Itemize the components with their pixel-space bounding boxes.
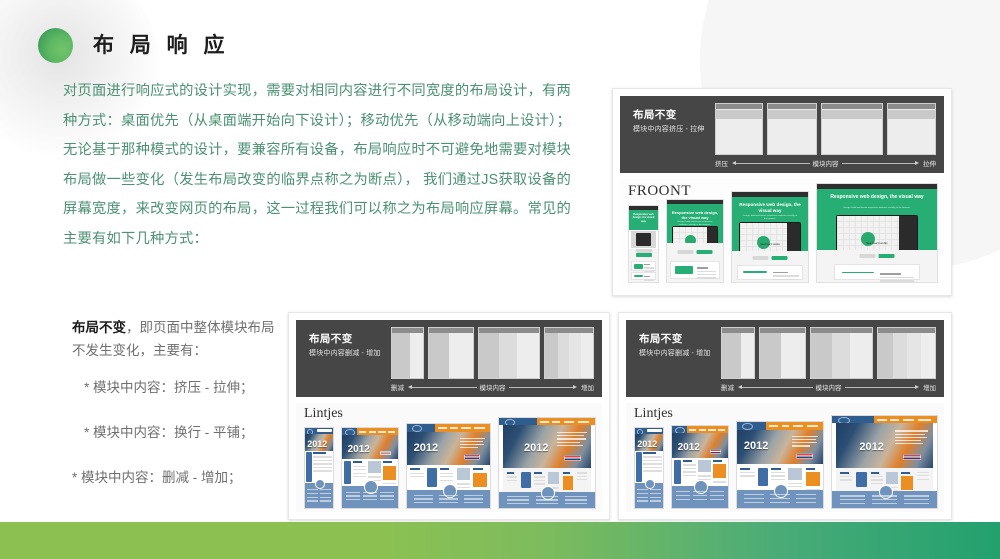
lintjes-screen-desktop: 2012 bbox=[498, 417, 596, 509]
froont-cta[interactable]: See how it works bbox=[834, 242, 920, 245]
lintjes-year: 2012 bbox=[637, 439, 657, 449]
froont-screen-phone: Responsive web design, the visual way bbox=[628, 205, 659, 283]
axis-label-left: 删减 bbox=[721, 382, 734, 392]
froont-cta[interactable]: See how it works bbox=[743, 243, 798, 246]
wireframe-box bbox=[428, 327, 474, 379]
wireframe-box bbox=[759, 327, 806, 379]
lintjes-screen-tablet-small: 2012 bbox=[671, 425, 729, 509]
wireframe-box bbox=[821, 103, 883, 155]
wireframe-box bbox=[544, 327, 594, 379]
wireframe-box-row bbox=[721, 327, 936, 379]
axis-label-right: 拉伸 bbox=[923, 158, 936, 168]
axis-label-left: 挤压 bbox=[715, 158, 728, 168]
wireframe-box bbox=[715, 103, 763, 155]
lintjes-screen-phone: 2012 bbox=[634, 427, 664, 509]
axis-label-left: 删减 bbox=[391, 382, 404, 392]
wireframe-axis: 挤压 模块内容 拉伸 bbox=[715, 158, 936, 168]
wireframe-reduce-add: 布局不变 模块中内容删减 - 增加 bbox=[626, 320, 944, 397]
froont-hero-title: Responsive web design, the visual way bbox=[824, 194, 930, 200]
froont-hero-sub: Design, build and iterate responsive web… bbox=[834, 207, 920, 210]
lead-strong: 布局不变 bbox=[72, 320, 126, 335]
wireframe-subtitle: 模块中内容删减 - 增加 bbox=[639, 349, 711, 359]
wireframe-title: 布局不变 bbox=[633, 108, 705, 122]
list-item: * 模块中内容：挤压 - 拉伸； bbox=[72, 376, 277, 399]
froont-hero-sub: Design, build and iterate responsive web… bbox=[743, 215, 798, 221]
axis-label-right: 增加 bbox=[923, 382, 936, 392]
bullet-list: * 模块中内容：挤压 - 拉伸； * 模块中内容：换行 - 平铺； * 模块中内… bbox=[72, 376, 277, 489]
lintjes-screens-row: 2012 2012 2012 bbox=[304, 427, 596, 509]
wireframe-subtitle: 模块中内容删减 - 增加 bbox=[309, 349, 381, 359]
lintjes-screen-phone: 2012 bbox=[304, 427, 334, 509]
lintjes-brand: Lintjes bbox=[634, 406, 673, 422]
wireframe-box bbox=[810, 327, 873, 379]
wireframe-box bbox=[877, 327, 936, 379]
wireframe-box-row bbox=[715, 103, 936, 155]
lintjes-screen-desktop: 2012 bbox=[831, 415, 938, 509]
lintjes-year: 2012 bbox=[859, 441, 883, 453]
wireframe-title: 布局不变 bbox=[309, 332, 381, 346]
axis-label-center: 模块内容 bbox=[477, 382, 509, 392]
wireframe-box-row bbox=[391, 327, 594, 379]
wireframe-labels: 布局不变 模块中内容删减 - 增加 bbox=[639, 332, 711, 359]
froont-brand: FROONT bbox=[628, 183, 691, 200]
axis-label-right: 增加 bbox=[581, 382, 594, 392]
panel-reduce-add-right: 布局不变 模块中内容删减 - 增加 bbox=[618, 312, 952, 520]
froont-screens-row: Responsive web design, the visual way Re… bbox=[628, 205, 938, 283]
list-item: * 模块中内容：换行 - 平铺； bbox=[72, 421, 277, 444]
lintjes-year: 2012 bbox=[524, 442, 548, 454]
wireframe-box bbox=[721, 327, 755, 379]
lintjes-mock-right: Lintjes 2012 2012 bbox=[626, 403, 944, 512]
lintjes-screens-row: 2012 2012 2012 bbox=[634, 427, 938, 509]
wireframe-subtitle: 模块中内容挤压 - 拉伸 bbox=[633, 125, 705, 135]
wireframe-title: 布局不变 bbox=[639, 332, 711, 346]
list-item: * 模块中内容：删减 - 增加； bbox=[72, 466, 277, 489]
axis-label-center: 模块内容 bbox=[813, 382, 845, 392]
bullet-dot-icon bbox=[38, 28, 73, 63]
wireframe-axis: 删减 模块内容 增加 bbox=[391, 382, 594, 392]
lintjes-brand: Lintjes bbox=[304, 406, 343, 422]
axis-label-center: 模块内容 bbox=[810, 158, 842, 168]
page-title: 布 局 响 应 bbox=[93, 29, 230, 59]
panel-squeeze-stretch: 布局不变 模块中内容挤压 - 拉伸 挤压 模块内容 拉伸 FROONT bbox=[612, 88, 952, 296]
slide-root: 布 局 响 应 对页面进行响应式的设计实现，需要对相同内容进行不同宽度的布局设计… bbox=[0, 0, 1000, 559]
wireframe-reduce-add: 布局不变 模块中内容删减 - 增加 bbox=[296, 320, 602, 397]
lintjes-year: 2012 bbox=[348, 444, 370, 455]
lintjes-year: 2012 bbox=[678, 442, 700, 453]
froont-screen-desktop: Responsive web design, the visual way De… bbox=[816, 183, 938, 283]
lintjes-mock-left: Lintjes 2012 2012 bbox=[296, 403, 602, 512]
lintjes-screen-tablet: 2012 bbox=[406, 423, 491, 509]
footer-gradient-bar bbox=[0, 522, 1000, 559]
froont-hero-title: Responsive web design, the visual way bbox=[631, 213, 657, 223]
wireframe-box bbox=[767, 103, 817, 155]
layout-unchanged-text-block: 布局不变，即页面中整体模块布局不发生变化，主要有： * 模块中内容：挤压 - 拉… bbox=[72, 316, 277, 489]
froont-hero-title: Responsive web design, the visual way bbox=[670, 210, 719, 220]
wireframe-labels: 布局不变 模块中内容挤压 - 拉伸 bbox=[633, 108, 705, 135]
wireframe-box bbox=[887, 103, 936, 155]
lintjes-year: 2012 bbox=[307, 439, 327, 449]
lintjes-year: 2012 bbox=[414, 442, 438, 454]
lead-line: 布局不变，即页面中整体模块布局不发生变化，主要有： bbox=[72, 316, 277, 362]
froont-hero-title: Responsive web design, the visual way bbox=[737, 202, 804, 214]
panel-reduce-add-left: 布局不变 模块中内容删减 - 增加 bbox=[288, 312, 610, 520]
wireframe-squeeze-stretch: 布局不变 模块中内容挤压 - 拉伸 挤压 模块内容 拉伸 bbox=[620, 96, 944, 173]
lintjes-screen-tablet-small: 2012 bbox=[341, 427, 399, 509]
froont-screen-tablet: Responsive web design, the visual way De… bbox=[731, 191, 809, 283]
wireframe-labels: 布局不变 模块中内容删减 - 增加 bbox=[309, 332, 381, 359]
wireframe-axis: 删减 模块内容 增加 bbox=[721, 382, 936, 392]
froont-screen-tablet-small: Responsive web design, the visual way De… bbox=[666, 199, 724, 283]
wireframe-box bbox=[391, 327, 424, 379]
intro-paragraph: 对页面进行响应式的设计实现，需要对相同内容进行不同宽度的布局设计，有两种方式：桌… bbox=[63, 77, 571, 254]
lintjes-year: 2012 bbox=[744, 440, 768, 452]
lintjes-screen-tablet: 2012 bbox=[736, 421, 824, 509]
wireframe-box bbox=[478, 327, 540, 379]
froont-mock: FROONT Responsive web design, the visual… bbox=[620, 179, 944, 288]
